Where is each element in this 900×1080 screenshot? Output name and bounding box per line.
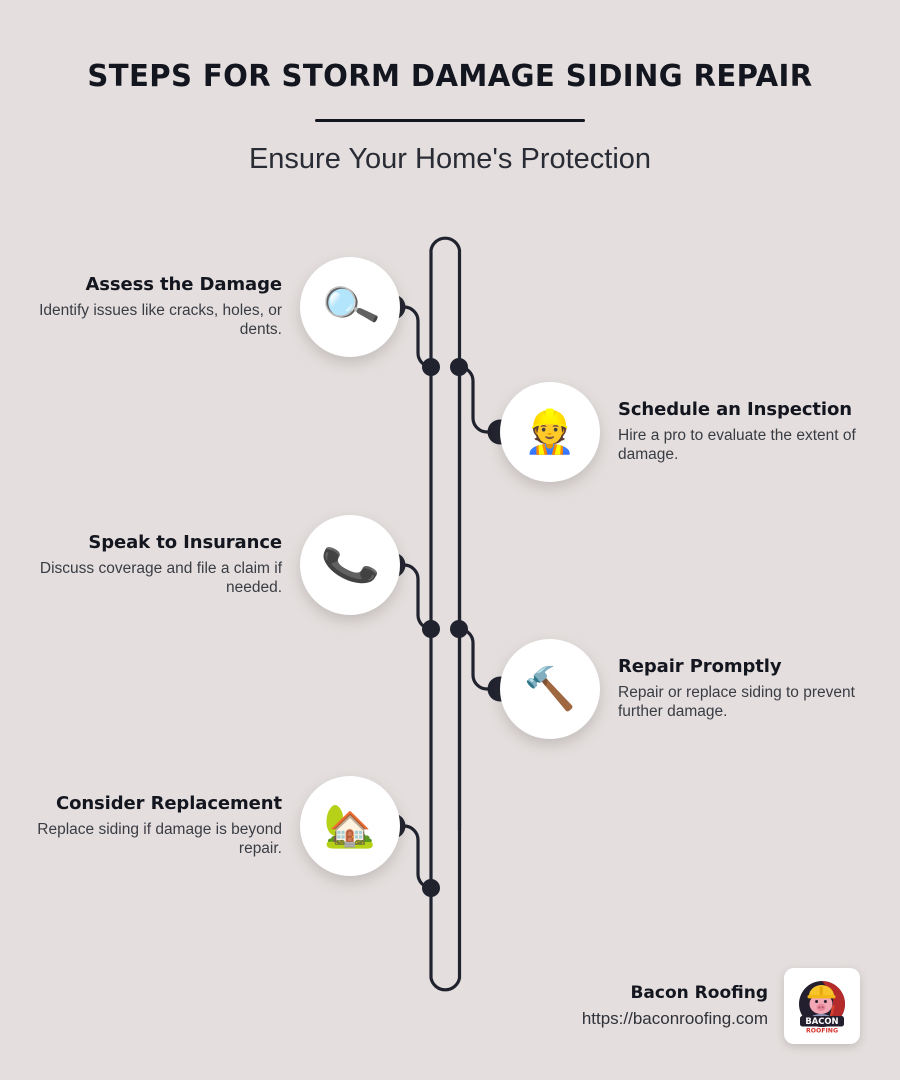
brand-logo-box: BACON ROOFING: [784, 968, 860, 1044]
house-with-garden-icon: 🏡: [324, 805, 376, 847]
logo-word-bottom: ROOFING: [806, 1028, 838, 1035]
rail-dot-step-2: [450, 358, 468, 376]
logo-word-top: BACON: [805, 1016, 838, 1026]
step-desc-5: Replace siding if damage is beyond repai…: [22, 821, 282, 859]
brand-name: Bacon Roofing: [582, 983, 768, 1004]
rail-loop-path: [431, 238, 460, 830]
step-item-5: Consider Replacement Replace siding if d…: [22, 776, 400, 876]
poster-footer: Bacon Roofing https://baconroofing.com: [470, 968, 860, 1044]
footer-text-block: Bacon Roofing https://baconroofing.com: [582, 983, 768, 1030]
step-title-5: Consider Replacement: [22, 793, 282, 815]
brand-url[interactable]: https://baconroofing.com: [582, 1008, 768, 1029]
step-icon-bubble-1: 🔍: [300, 257, 400, 357]
step-title-4: Repair Promptly: [618, 656, 878, 678]
step-icon-bubble-5: 🏡: [300, 776, 400, 876]
step-item-2: 👷 Schedule an Inspection Hire a pro to e…: [500, 382, 878, 482]
step-desc-1: Identify issues like cracks, holes, or d…: [22, 302, 282, 340]
rail-dot-step-1: [422, 358, 440, 376]
infographic-poster: STEPS FOR STORM DAMAGE SIDING REPAIR Ens…: [0, 0, 900, 1080]
step-title-3: Speak to Insurance: [22, 532, 282, 554]
step-text-2: Schedule an Inspection Hire a pro to eva…: [618, 399, 878, 465]
hammer-icon: 🔨: [524, 668, 576, 710]
step-desc-4: Repair or replace siding to prevent furt…: [618, 684, 878, 722]
branch-path-step-4: [459, 629, 499, 689]
rail-dot-step-4: [450, 620, 468, 638]
bacon-roofing-logo-icon: BACON ROOFING: [791, 975, 853, 1037]
page-title: STEPS FOR STORM DAMAGE SIDING REPAIR: [14, 60, 887, 93]
magnifying-glass-icon: 🔍: [319, 279, 382, 335]
step-text-4: Repair Promptly Repair or replace siding…: [618, 656, 878, 722]
rail-dot-step-5: [422, 879, 440, 897]
rail-left-lower-path: [431, 367, 460, 990]
step-desc-3: Discuss coverage and file a claim if nee…: [22, 560, 282, 598]
step-icon-bubble-4: 🔨: [500, 639, 600, 739]
branch-path-step-2: [459, 367, 499, 432]
step-text-1: Assess the Damage Identify issues like c…: [22, 274, 282, 340]
step-text-3: Speak to Insurance Discuss coverage and …: [22, 532, 282, 598]
step-item-1: Assess the Damage Identify issues like c…: [22, 257, 400, 357]
poster-header: STEPS FOR STORM DAMAGE SIDING REPAIR Ens…: [0, 60, 900, 176]
step-text-5: Consider Replacement Replace siding if d…: [22, 793, 282, 859]
step-desc-2: Hire a pro to evaluate the extent of dam…: [618, 427, 878, 465]
step-item-4: 🔨 Repair Promptly Repair or replace sidi…: [500, 639, 878, 739]
step-title-2: Schedule an Inspection: [618, 399, 878, 421]
rail-dot-step-3: [422, 620, 440, 638]
construction-worker-icon: 👷: [524, 411, 576, 453]
telephone-receiver-icon: 📞: [319, 537, 382, 593]
step-title-1: Assess the Damage: [22, 274, 282, 296]
page-subtitle: Ensure Your Home's Protection: [0, 144, 900, 176]
title-divider: [315, 119, 585, 122]
step-icon-bubble-3: 📞: [300, 515, 400, 615]
step-item-3: Speak to Insurance Discuss coverage and …: [22, 515, 400, 615]
step-icon-bubble-2: 👷: [500, 382, 600, 482]
